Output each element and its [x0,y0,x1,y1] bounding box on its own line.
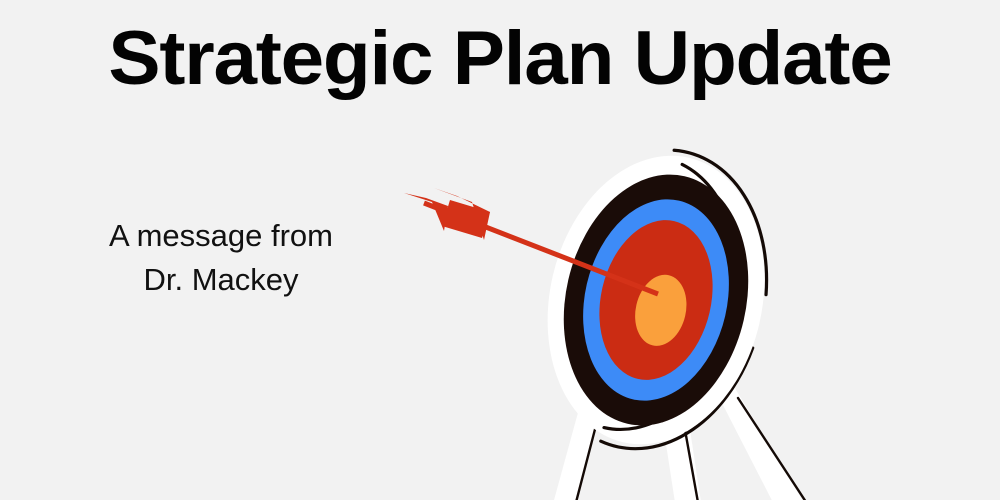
subtitle-line-1: A message from [28,214,414,258]
banner-graphic: Strategic Plan Update A message from Dr.… [0,0,1000,500]
page-title: Strategic Plan Update [0,16,1000,102]
arrow-fletching-rear-icon [404,193,448,231]
archery-target-icon [386,130,886,500]
subtitle-block: A message from Dr. Mackey [28,214,414,302]
subtitle-line-2: Dr. Mackey [28,258,414,302]
arrow-fletching-body-icon [442,200,490,238]
